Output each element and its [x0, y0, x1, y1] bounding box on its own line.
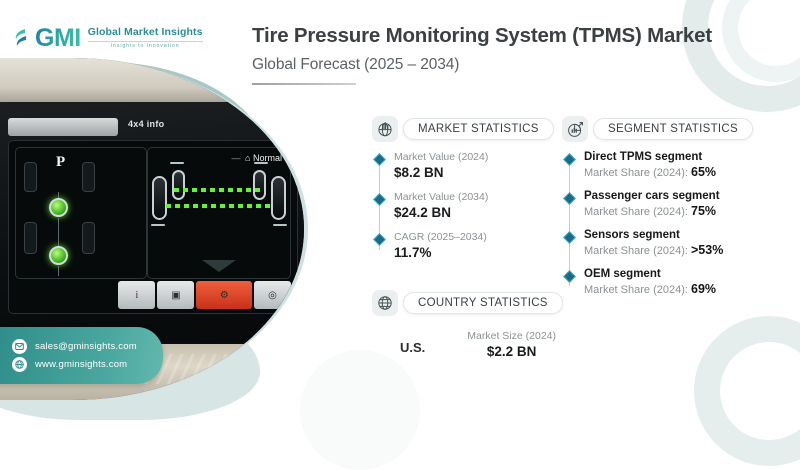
segment-stat-item: Passenger cars segment Market Share (202…: [584, 190, 753, 218]
market-stat-item: Market Value (2034) $24.2 BN: [394, 191, 554, 220]
segment-statistics-title: SEGMENT STATISTICS: [593, 118, 753, 140]
tick-mark: [170, 162, 184, 164]
status-slot: [82, 222, 95, 254]
segment-stat-item: Direct TPMS segment Market Share (2024):…: [584, 151, 753, 179]
country-statistics-title: COUNTRY STATISTICS: [403, 292, 563, 314]
segment-share-label: Market Share (2024):: [584, 284, 691, 296]
market-stat-value: $8.2 BN: [394, 165, 554, 180]
seat-button[interactable]: ▣: [157, 281, 194, 309]
segment-share: Market Share (2024): 65%: [584, 165, 753, 179]
contact-email: sales@gminsights.com: [35, 341, 137, 352]
market-stat-label: Market Value (2034): [394, 191, 554, 203]
tire-graphic: [152, 176, 167, 220]
title-underline: [252, 83, 356, 85]
segment-statistics-list: Direct TPMS segment Market Share (2024):…: [562, 151, 753, 296]
country-metric-value: $2.2 BN: [467, 344, 556, 359]
decorative-arc-bottom-right: [694, 316, 800, 466]
gmi-logo[interactable]: GMI Global Market Insights Insights to I…: [14, 24, 203, 53]
drive-status-panel: P: [15, 147, 147, 279]
status-slot: [24, 222, 37, 254]
segment-share-label: Market Share (2024):: [584, 245, 691, 257]
country-name: U.S.: [400, 340, 425, 355]
globe-icon: [12, 357, 27, 372]
country-statistics-section: COUNTRY STATISTICS U.S. Market Size (202…: [372, 290, 563, 359]
tick-mark: [151, 224, 165, 226]
axle-line: [174, 188, 264, 192]
axle-diagram-panel: — ⌂ Normal: [147, 147, 291, 279]
contact-website: www.gminsights.com: [35, 359, 127, 370]
tire-graphic: [253, 170, 266, 200]
mode-dash-icon: —: [232, 153, 241, 163]
envelope-icon: [12, 339, 27, 354]
segment-statistics-section: SEGMENT STATISTICS Direct TPMS segment M…: [562, 116, 753, 296]
segment-stat-item: Sensors segment Market Share (2024): >53…: [584, 229, 753, 257]
status-slot: [82, 162, 95, 192]
gmi-wordmark: GMI: [35, 24, 81, 53]
market-stat-value: $24.2 BN: [394, 205, 554, 220]
display-tab-label: 4x4 info: [128, 119, 164, 129]
diff-link-line: [58, 266, 59, 276]
market-stat-value: 11.7%: [394, 245, 554, 260]
segment-share: Market Share (2024): >53%: [584, 243, 753, 257]
segment-name: Passenger cars segment: [584, 190, 753, 202]
segment-share-value: 75%: [691, 204, 716, 218]
segment-statistics-header: SEGMENT STATISTICS: [562, 116, 753, 142]
compass-button[interactable]: ◎: [254, 281, 291, 309]
market-statistics-list: Market Value (2024) $8.2 BN Market Value…: [372, 151, 554, 260]
tpms-warning-button[interactable]: ⚙: [196, 281, 252, 309]
segment-share-value: >53%: [691, 243, 723, 257]
market-statistics-title: MARKET STATISTICS: [403, 118, 554, 140]
segment-name: OEM segment: [584, 268, 753, 280]
country-statistics-body: U.S. Market Size (2024) $2.2 BN: [372, 330, 563, 359]
tire-graphic: [172, 170, 185, 200]
tire-graphic: [271, 176, 286, 220]
globe-bar-chart-icon: [372, 116, 398, 142]
green-status-led: [49, 198, 68, 217]
page-subtitle: Global Forecast (2025 – 2034): [252, 56, 754, 74]
market-stat-label: Market Value (2024): [394, 151, 554, 163]
logo-tagline: Insights to Innovation: [88, 41, 203, 49]
display-tab-strip: [8, 118, 118, 136]
green-status-led: [49, 246, 68, 265]
market-stat-item: Market Value (2024) $8.2 BN: [394, 151, 554, 180]
market-stat-label: CAGR (2025–2034): [394, 231, 554, 243]
tick-mark: [254, 162, 268, 164]
segment-stat-item: OEM segment Market Share (2024): 69%: [584, 268, 753, 296]
page-title: Tire Pressure Monitoring System (TPMS) M…: [252, 24, 754, 48]
gear-indicator: P: [56, 156, 65, 170]
segment-share-label: Market Share (2024):: [584, 167, 691, 179]
gmi-leaf-icon: [14, 28, 28, 50]
logo-text-block: Global Market Insights Insights to Innov…: [88, 27, 203, 49]
mode-caret-icon: ⌂: [245, 153, 250, 163]
display-button-bar[interactable]: i ▣ ⚙ ◎: [118, 281, 291, 309]
projection-cone: [202, 260, 236, 272]
status-slot: [24, 162, 37, 192]
market-statistics-header: MARKET STATISTICS: [372, 116, 554, 142]
segment-name: Sensors segment: [584, 229, 753, 241]
country-metric-label: Market Size (2024): [467, 330, 556, 342]
contact-website-row[interactable]: www.gminsights.com: [12, 357, 137, 372]
segment-name: Direct TPMS segment: [584, 151, 753, 163]
contact-panel: sales@gminsights.com www.gminsights.com: [0, 327, 163, 384]
axle-line: [166, 204, 272, 208]
globe-icon: [372, 290, 398, 316]
country-metric: Market Size (2024) $2.2 BN: [467, 330, 556, 359]
header: Tire Pressure Monitoring System (TPMS) M…: [252, 24, 754, 85]
country-statistics-header: COUNTRY STATISTICS: [372, 290, 563, 316]
market-stat-item: CAGR (2025–2034) 11.7%: [394, 231, 554, 260]
segment-share: Market Share (2024): 75%: [584, 204, 753, 218]
contact-email-row[interactable]: sales@gminsights.com: [12, 339, 137, 354]
segment-share: Market Share (2024): 69%: [584, 282, 753, 296]
market-statistics-section: MARKET STATISTICS Market Value (2024) $8…: [372, 116, 554, 260]
gmi-logo-icon: [14, 28, 28, 50]
tick-mark: [273, 224, 287, 226]
segment-share-value: 69%: [691, 282, 716, 296]
logo-company-name: Global Market Insights: [88, 27, 203, 38]
segment-share-label: Market Share (2024):: [584, 206, 691, 218]
pie-chart-arrow-icon: [562, 116, 588, 142]
info-button[interactable]: i: [118, 281, 155, 309]
segment-share-value: 65%: [691, 165, 716, 179]
display-screen: P — ⌂ Normal: [8, 140, 298, 314]
diff-link-line: [58, 218, 59, 246]
